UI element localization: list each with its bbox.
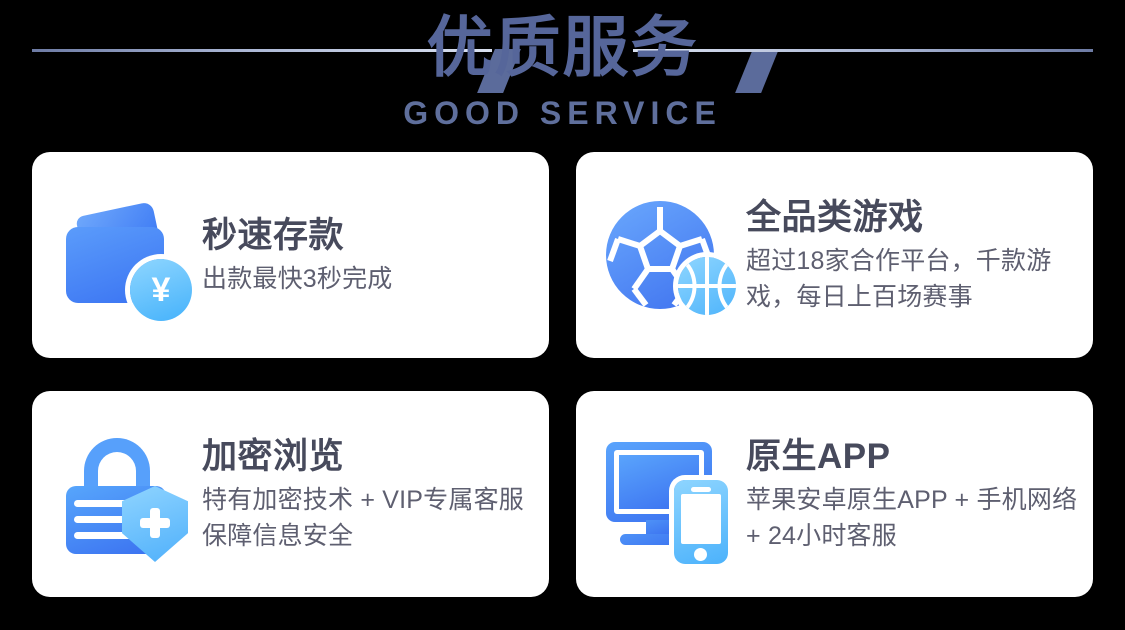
card-title: 加密浏览 xyxy=(202,435,535,479)
lock-shield-icon xyxy=(54,424,194,564)
yen-coin-icon: ¥ xyxy=(130,259,192,321)
feature-card-games[interactable]: 全品类游戏 超过18家合作平台，千款游戏，每日上百场赛事 xyxy=(576,152,1093,358)
soccer-basketball-icon xyxy=(598,185,738,325)
page-title: 优质服务 xyxy=(0,7,1125,87)
phone-home-button-icon xyxy=(694,548,707,561)
wallet-yen-icon: ¥ xyxy=(54,185,194,325)
phone-speaker-icon xyxy=(691,487,711,492)
page-header: 优质服务 GOOD SERVICE xyxy=(0,0,1125,148)
card-text-block: 原生APP 苹果安卓原生APP + 手机网络 + 24小时客服 xyxy=(746,435,1079,554)
monitor-phone-icon xyxy=(598,424,738,564)
feature-card-grid: ¥ 秒速存款 出款最快3秒完成 xyxy=(32,152,1093,597)
card-text-block: 加密浏览 特有加密技术 + VIP专属客服保障信息安全 xyxy=(202,435,535,554)
card-description: 超过18家合作平台，千款游戏，每日上百场赛事 xyxy=(746,243,1079,315)
feature-card-native-app[interactable]: 原生APP 苹果安卓原生APP + 手机网络 + 24小时客服 xyxy=(576,391,1093,597)
card-description: 出款最快3秒完成 xyxy=(202,261,535,297)
card-description: 特有加密技术 + VIP专属客服保障信息安全 xyxy=(202,482,535,554)
card-title: 原生APP xyxy=(746,435,1079,479)
card-title: 秒速存款 xyxy=(202,214,535,258)
page-subtitle: GOOD SERVICE xyxy=(0,94,1125,132)
card-description: 苹果安卓原生APP + 手机网络 + 24小时客服 xyxy=(746,482,1079,554)
card-text-block: 全品类游戏 超过18家合作平台，千款游戏，每日上百场赛事 xyxy=(746,196,1079,315)
phone-screen-icon xyxy=(681,494,721,544)
card-text-block: 秒速存款 出款最快3秒完成 xyxy=(202,214,535,297)
basketball-icon xyxy=(678,257,736,315)
card-title: 全品类游戏 xyxy=(746,196,1079,240)
feature-card-deposit[interactable]: ¥ 秒速存款 出款最快3秒完成 xyxy=(32,152,549,358)
plus-icon xyxy=(150,508,160,538)
feature-card-encryption[interactable]: 加密浏览 特有加密技术 + VIP专属客服保障信息安全 xyxy=(32,391,549,597)
